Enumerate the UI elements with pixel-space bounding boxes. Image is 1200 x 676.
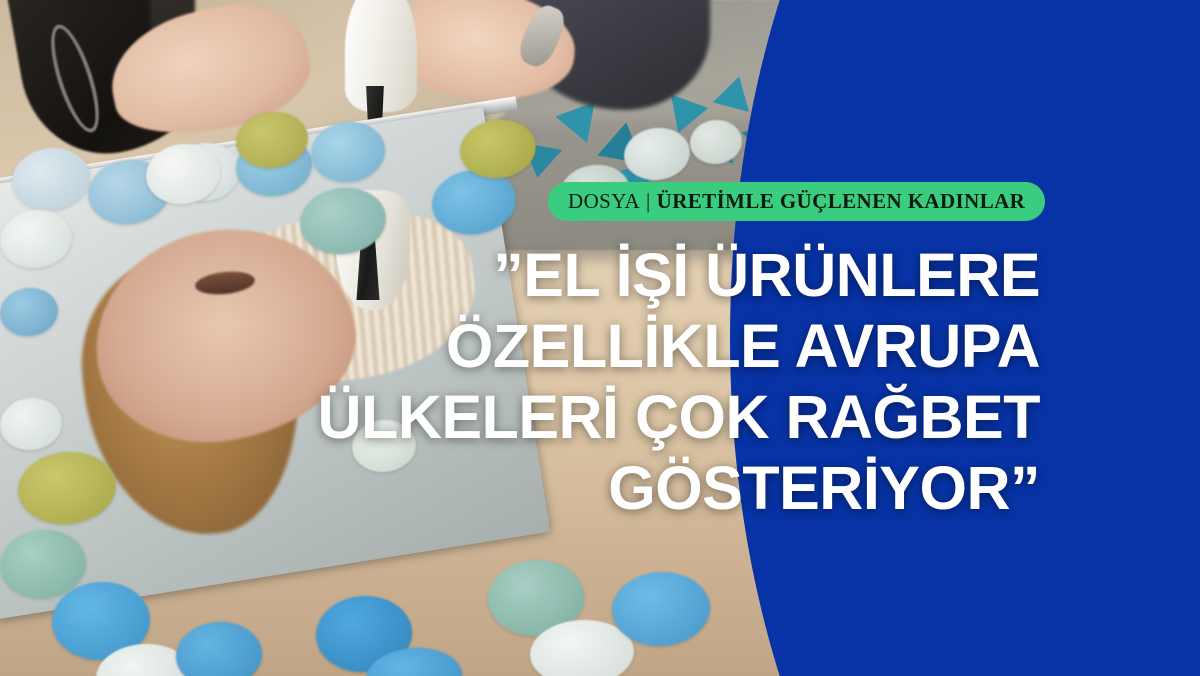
headline-line-1: ”EL İŞİ ÜRÜNLERE xyxy=(160,240,1040,311)
category-badge[interactable]: DOSYA | ÜRETİMLE GÜÇLENEN KADINLAR xyxy=(548,182,1045,221)
headline-line-4: GÖSTERİYOR” xyxy=(160,453,1040,524)
headline: ”EL İŞİ ÜRÜNLERE ÖZELLİKLE AVRUPA ÜLKELE… xyxy=(160,240,1040,524)
promo-banner: DOSYA | ÜRETİMLE GÜÇLENEN KADINLAR ”EL İ… xyxy=(0,0,1200,676)
badge-lead-label: DOSYA xyxy=(568,189,640,214)
badge-main-label: ÜRETİMLE GÜÇLENEN KADINLAR xyxy=(657,189,1026,214)
headline-line-2: ÖZELLİKLE AVRUPA xyxy=(160,311,1040,382)
headline-line-3: ÜLKELERİ ÇOK RAĞBET xyxy=(160,382,1040,453)
badge-separator: | xyxy=(646,189,651,214)
